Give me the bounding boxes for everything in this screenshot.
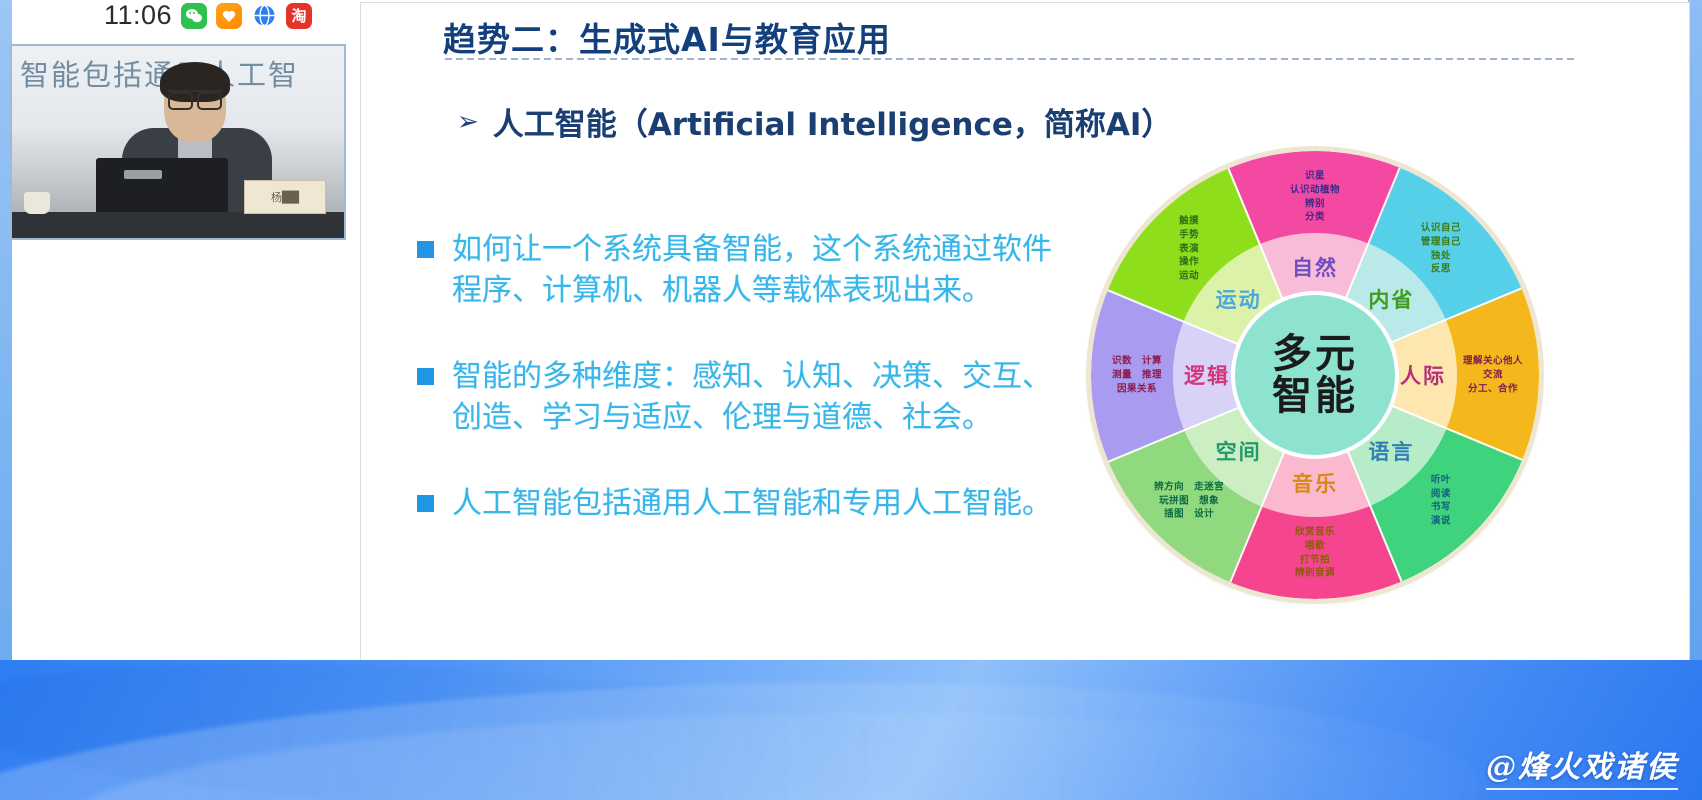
wheel-sector-keywords-logical: 识数 计算测量 推理因果关系 xyxy=(1112,354,1162,395)
slide-subtitle-text: 人工智能（Artificial Intelligence，简称AI） xyxy=(493,99,1173,144)
square-bullet-icon xyxy=(417,241,434,258)
health-icon[interactable] xyxy=(216,3,242,29)
wheel-sector-label-intrapersonal: 内省 xyxy=(1368,284,1414,314)
screen-root: 11:06 淘 5G 87 xyxy=(0,0,1702,800)
multiple-intelligences-wheel: 多元智能 内省认识自己管理自己独处反思人际理解关心他人交流分工、合作语言听叶阅读… xyxy=(1091,151,1539,599)
title-divider xyxy=(445,58,1575,60)
presentation-slide: 趋势二：生成式AI与教育应用 ➢ 人工智能（Artificial Intelli… xyxy=(360,2,1690,662)
list-item: 智能的多种维度：感知、认知、决策、交互、创造、学习与适应、伦理与道德、社会。 xyxy=(417,356,1077,439)
slide-subtitle: ➢ 人工智能（Artificial Intelligence，简称AI） xyxy=(457,99,1172,144)
browser-icon[interactable] xyxy=(251,3,277,29)
wheel-sector-label-logical: 逻辑 xyxy=(1184,360,1230,390)
channel-watermark: @烽火戏诸侯 xyxy=(1486,742,1678,790)
wheel-sector-keywords-interpersonal: 理解关心他人交流分工、合作 xyxy=(1463,354,1523,395)
cup xyxy=(24,192,50,214)
wheel-sector-label-musical: 音乐 xyxy=(1292,468,1338,498)
bullet-text: 如何让一个系统具备智能，这个系统通过软件程序、计算机、机器人等载体表现出来。 xyxy=(452,229,1077,312)
speaker-glasses xyxy=(168,90,222,104)
wheel-sector-label-spatial: 空间 xyxy=(1216,436,1262,466)
wheel-sector-keywords-naturalist: 识星认识动植物辨别分类 xyxy=(1290,169,1340,224)
laptop-label xyxy=(124,170,162,179)
laptop xyxy=(96,158,228,220)
wheel-sector-keywords-bodily: 触摸手势表演操作运动 xyxy=(1179,215,1199,284)
bottom-banner: @烽火戏诸侯 xyxy=(0,660,1702,800)
taobao-icon[interactable]: 淘 xyxy=(286,3,312,29)
list-item: 人工智能包括通用人工智能和专用人工智能。 xyxy=(417,483,1077,524)
status-clock: 11:06 xyxy=(104,2,172,29)
wechat-icon[interactable] xyxy=(181,3,207,29)
bullet-text: 人工智能包括通用人工智能和专用人工智能。 xyxy=(452,483,1052,524)
wheel-sector-label-bodily: 运动 xyxy=(1216,284,1262,314)
bullet-list: 如何让一个系统具备智能，这个系统通过软件程序、计算机、机器人等载体表现出来。 智… xyxy=(417,229,1077,568)
list-item: 如何让一个系统具备智能，这个系统通过软件程序、计算机、机器人等载体表现出来。 xyxy=(417,229,1077,312)
wheel-center-label: 多元智能 xyxy=(1240,333,1390,417)
wheel-sector-keywords-spatial: 辨方向 走迷宫玩拼图 想象插图 设计 xyxy=(1154,480,1224,521)
status-bar-left: 11:06 淘 xyxy=(104,2,312,29)
square-bullet-icon xyxy=(417,368,434,385)
bullet-text: 智能的多种维度：感知、认知、决策、交互、创造、学习与适应、伦理与道德、社会。 xyxy=(452,356,1077,439)
wheel-sector-keywords-musical: 欣赏音乐唱歌打节拍辨别音调 xyxy=(1295,525,1335,580)
slide-title: 趋势二：生成式AI与教育应用 xyxy=(443,13,891,61)
speaker-video-thumbnail[interactable]: 智能包括通用人工智 杨██ xyxy=(10,44,346,240)
wheel-sector-keywords-intrapersonal: 认识自己管理自己独处反思 xyxy=(1421,222,1461,277)
square-bullet-icon xyxy=(417,495,434,512)
nameplate: 杨██ xyxy=(244,180,326,214)
desk xyxy=(12,212,344,238)
wheel-sector-label-interpersonal: 人际 xyxy=(1400,360,1446,390)
wheel-sector-label-linguistic: 语言 xyxy=(1368,436,1414,466)
right-frame-edge xyxy=(1688,0,1702,740)
wheel-sector-label-naturalist: 自然 xyxy=(1292,252,1338,282)
wheel-sector-keywords-linguistic: 听叶阅读书写演说 xyxy=(1431,473,1451,528)
arrow-bullet-icon: ➢ xyxy=(457,107,479,137)
